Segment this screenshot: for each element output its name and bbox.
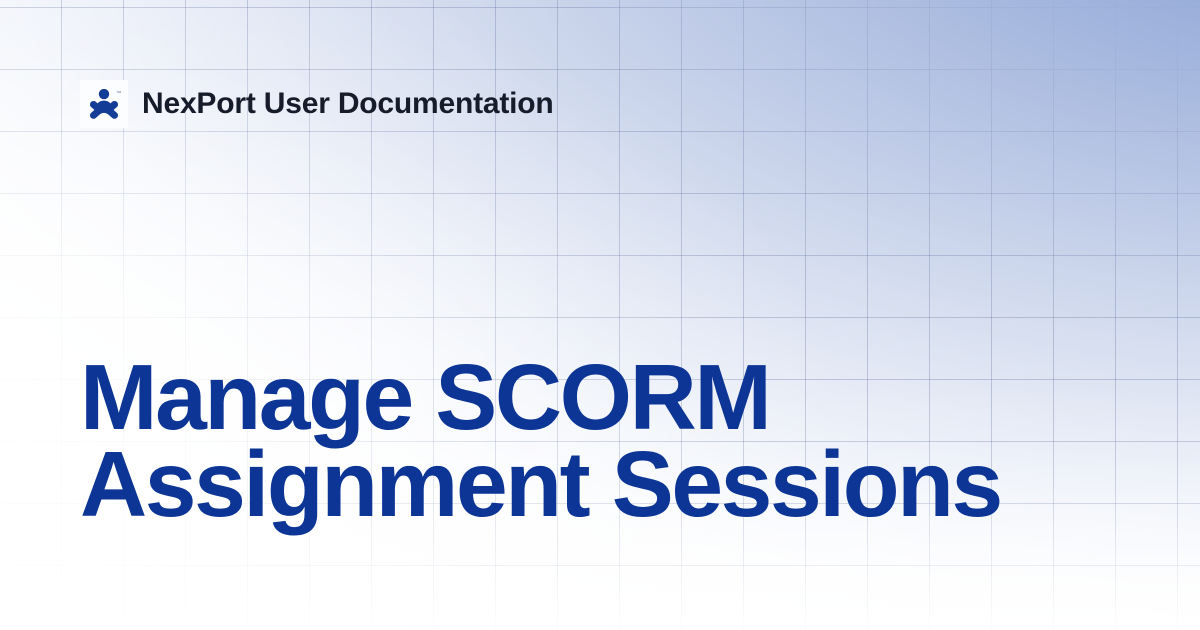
- trademark-mark: ™: [116, 90, 121, 96]
- page-title: Manage SCORM Assignment Sessions: [80, 352, 1120, 529]
- nexport-person-logo-icon: ™: [87, 87, 121, 121]
- page-title-line-1: Manage SCORM: [80, 352, 1120, 442]
- brand-logo-badge: ™: [80, 80, 128, 128]
- brand-row: ™ NexPort User Documentation: [80, 80, 554, 128]
- page-title-line-2: Assignment Sessions: [80, 439, 1120, 529]
- card-content: ™ NexPort User Documentation Manage SCOR…: [0, 0, 1200, 630]
- brand-title: NexPort User Documentation: [142, 89, 554, 119]
- og-card: ™ NexPort User Documentation Manage SCOR…: [0, 0, 1200, 630]
